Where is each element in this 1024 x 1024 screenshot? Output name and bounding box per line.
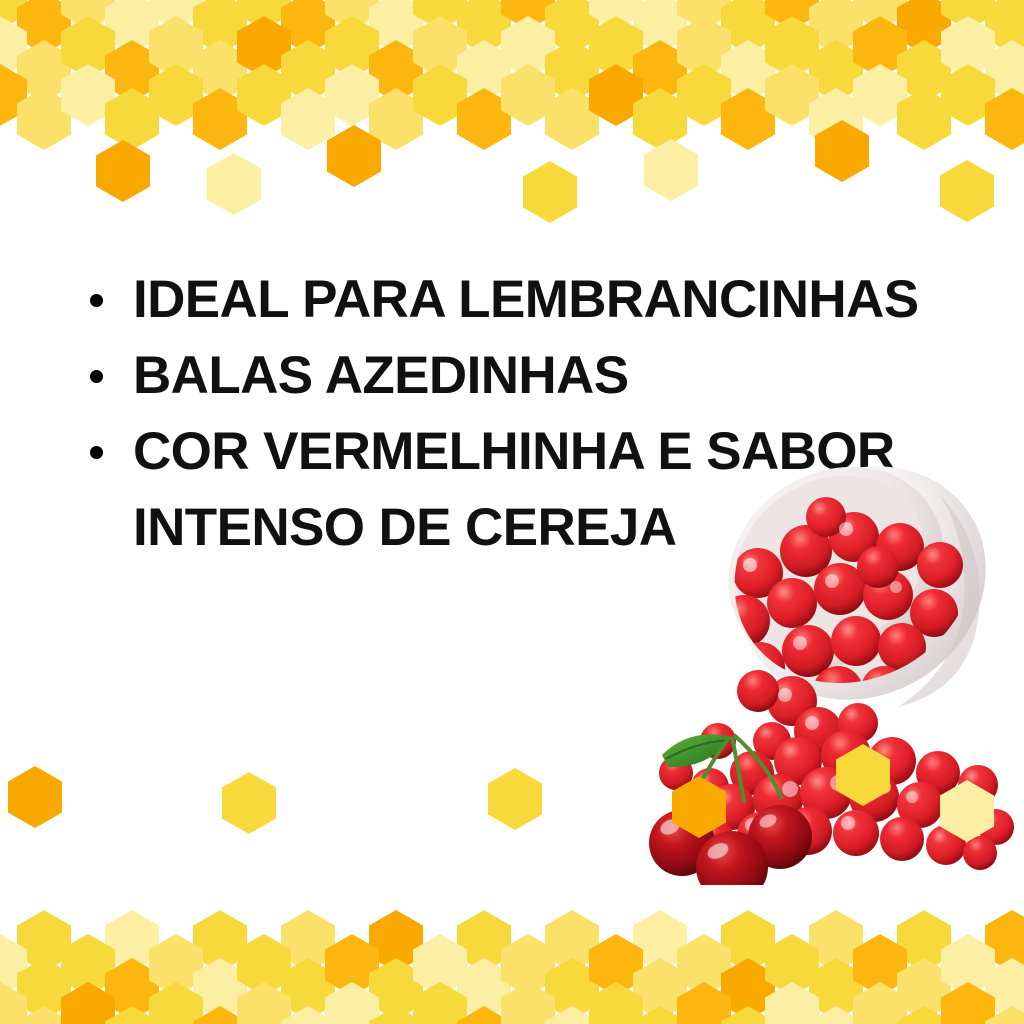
bullet-dot-icon — [90, 370, 103, 383]
honeycomb-cell — [17, 1006, 71, 1024]
honeycomb-cell — [193, 1006, 247, 1024]
honeycomb-cell — [149, 16, 203, 78]
honeycomb-cell — [589, 0, 643, 30]
honeycomb-cell — [105, 910, 159, 972]
honeycomb-cell — [721, 1006, 775, 1024]
honeycomb-cell — [985, 1006, 1024, 1024]
honeycomb-cell — [105, 40, 159, 102]
honeycomb-cell — [985, 910, 1024, 972]
honeycomb-cell — [17, 958, 71, 1020]
honeycomb-cell — [809, 910, 863, 972]
honeycomb-cell — [985, 958, 1024, 1020]
honeycomb-cell — [633, 910, 687, 972]
honeycomb-cell — [369, 1006, 423, 1024]
honeycomb-cell — [237, 0, 291, 30]
honeycomb-cell — [325, 982, 379, 1024]
honeycomb-cell — [149, 934, 203, 996]
honeycomb-cell — [853, 934, 907, 996]
honeycomb-cell — [853, 16, 907, 78]
honeycomb-cell-accent — [488, 768, 542, 830]
honeycomb-cell — [897, 0, 951, 54]
honeycomb-cell — [61, 934, 115, 996]
honeycomb-cell — [369, 40, 423, 102]
honeycomb-cell — [17, 910, 71, 972]
honeycomb-cell — [17, 88, 71, 150]
honeycomb-cell — [545, 0, 599, 54]
honeycomb-cell — [545, 40, 599, 102]
honeycomb-cell — [677, 0, 731, 30]
honeycomb-cell — [589, 64, 643, 126]
honeycomb-cell — [677, 16, 731, 78]
honeycomb-cell — [105, 1006, 159, 1024]
honeycomb-cell — [281, 910, 335, 972]
honeycomb-cell — [677, 934, 731, 996]
honeycomb-cell — [457, 40, 511, 102]
honeycomb-cell — [853, 64, 907, 126]
list-item: IDEAL PARA LEMBRANCINHAS — [80, 262, 960, 338]
honeycomb-cell — [413, 982, 467, 1024]
honeycomb-cell — [237, 982, 291, 1024]
honeycomb-cell — [457, 958, 511, 1020]
honeycomb-cell — [941, 16, 995, 78]
honeycomb-cell-accent — [327, 125, 381, 187]
honeycomb-cell — [897, 910, 951, 972]
honeycomb-cell — [633, 40, 687, 102]
honeycomb-cell — [721, 958, 775, 1020]
honeycomb-cell — [369, 88, 423, 150]
honeycomb-cell — [193, 958, 247, 1020]
honeycomb-cell — [193, 40, 247, 102]
honeycomb-cell — [809, 958, 863, 1020]
honeycomb-cell — [281, 958, 335, 1020]
honeycomb-cell — [985, 0, 1024, 54]
honeycomb-cell — [501, 16, 555, 78]
honeycomb-cell — [633, 958, 687, 1020]
honeycomb-cell — [457, 0, 511, 54]
poster-canvas: IDEAL PARA LEMBRANCINHAS BALAS AZEDINHAS… — [0, 0, 1024, 1024]
honeycomb-cell — [149, 0, 203, 30]
honeycomb-cell — [589, 16, 643, 78]
honeycomb-cell — [501, 934, 555, 996]
honeycomb-cell — [281, 1006, 335, 1024]
honeycomb-cell — [941, 982, 995, 1024]
honeycomb-cell — [325, 64, 379, 126]
honeycomb-cell-accent — [940, 160, 994, 222]
honeycomb-cell — [0, 16, 27, 78]
honeycomb-cell — [193, 88, 247, 150]
honeycomb-cell — [677, 982, 731, 1024]
list-item-label: BALAS AZEDINHAS — [133, 338, 628, 414]
honeycomb-cell — [0, 0, 27, 30]
honeycomb-cell — [281, 0, 335, 54]
honeycomb-cell — [633, 88, 687, 150]
honeycomb-cell — [0, 64, 27, 126]
honeycomb-cell — [589, 982, 643, 1024]
honeycomb-cell — [941, 934, 995, 996]
honeycomb-cell — [0, 934, 27, 996]
honeycomb-cell — [897, 88, 951, 150]
honeycomb-cell-accent — [96, 140, 150, 202]
honeycomb-cell — [501, 982, 555, 1024]
honeycomb-cell-accent — [815, 120, 869, 182]
list-item: BALAS AZEDINHAS — [80, 338, 960, 414]
honeycomb-cell — [589, 934, 643, 996]
bullet-dot-icon — [90, 446, 103, 459]
honeycomb-cell — [281, 88, 335, 150]
honeycomb-top-border — [0, 0, 1024, 300]
honeycomb-cell — [853, 0, 907, 30]
honeycomb-cell — [413, 16, 467, 78]
honeycomb-cell — [897, 958, 951, 1020]
honeycomb-cell — [413, 64, 467, 126]
honeycomb-cell-accent — [222, 772, 276, 834]
honeycomb-cell — [809, 0, 863, 54]
honeycomb-cell — [897, 40, 951, 102]
honeycomb-cell — [545, 1006, 599, 1024]
list-item-label: INTENSO DE CEREJA — [133, 490, 676, 566]
honeycomb-cell — [325, 0, 379, 30]
honeycomb-cell — [325, 16, 379, 78]
honeycomb-cell — [765, 0, 819, 30]
honeycomb-cell — [501, 0, 555, 30]
honeycomb-cell — [765, 934, 819, 996]
honeycomb-cell — [237, 64, 291, 126]
honeycomb-cell — [457, 88, 511, 150]
honeycomb-cell — [17, 40, 71, 102]
honeycomb-cell — [369, 958, 423, 1020]
honeycomb-cell — [237, 16, 291, 78]
honeycomb-cell — [237, 934, 291, 996]
honeycomb-cell — [325, 934, 379, 996]
honeycomb-cell — [545, 88, 599, 150]
honeycomb-cell-accent — [644, 139, 698, 201]
honeycomb-cell — [149, 982, 203, 1024]
honeycomb-cell — [633, 1006, 687, 1024]
honeycomb-cell — [369, 0, 423, 54]
honeycomb-cell — [193, 910, 247, 972]
honeycomb-cell — [105, 88, 159, 150]
honeycomb-cell — [853, 982, 907, 1024]
honeycomb-cell — [765, 982, 819, 1024]
honeycomb-cell — [721, 40, 775, 102]
honeycomb-cell — [721, 0, 775, 54]
honeycomb-cell — [501, 64, 555, 126]
honeycomb-cell — [369, 910, 423, 972]
list-item-label: IDEAL PARA LEMBRANCINHAS — [133, 262, 919, 338]
honeycomb-cell — [413, 0, 467, 30]
honeycomb-cell — [17, 0, 71, 54]
honeycomb-cell — [809, 1006, 863, 1024]
honeycomb-cell — [809, 40, 863, 102]
honeycomb-cell — [413, 934, 467, 996]
honeycomb-cell — [193, 0, 247, 54]
honeycomb-cell — [457, 910, 511, 972]
honeycomb-cell-accent — [8, 766, 62, 828]
honeycomb-cell — [985, 40, 1024, 102]
honeycomb-cell — [61, 16, 115, 78]
bullet-dot-icon — [90, 294, 103, 307]
honeycomb-cell — [721, 88, 775, 150]
honeycomb-cell — [545, 958, 599, 1020]
honeycomb-cell — [149, 64, 203, 126]
honeycomb-cell-accent — [207, 153, 261, 215]
honeycomb-cell — [941, 0, 995, 30]
honeycomb-cell — [985, 88, 1024, 150]
honeycomb-cell — [941, 64, 995, 126]
candy-bowl-photo — [640, 455, 1024, 885]
honeycomb-cell-accent — [523, 161, 577, 223]
honeycomb-cell — [809, 88, 863, 150]
honeycomb-cell — [61, 64, 115, 126]
honeycomb-cell — [281, 40, 335, 102]
honeycomb-cell — [721, 910, 775, 972]
honeycomb-cell — [765, 64, 819, 126]
honeycomb-cell — [61, 0, 115, 30]
honeycomb-cell — [0, 982, 27, 1024]
honeycomb-cell — [105, 958, 159, 1020]
honeycomb-cell — [105, 0, 159, 54]
honeycomb-cell — [677, 64, 731, 126]
honeycomb-cell — [633, 0, 687, 54]
honeycomb-cell — [457, 1006, 511, 1024]
honeycomb-cell — [61, 982, 115, 1024]
honeycomb-cell — [545, 910, 599, 972]
honeycomb-cell — [765, 16, 819, 78]
honeycomb-cell — [897, 1006, 951, 1024]
